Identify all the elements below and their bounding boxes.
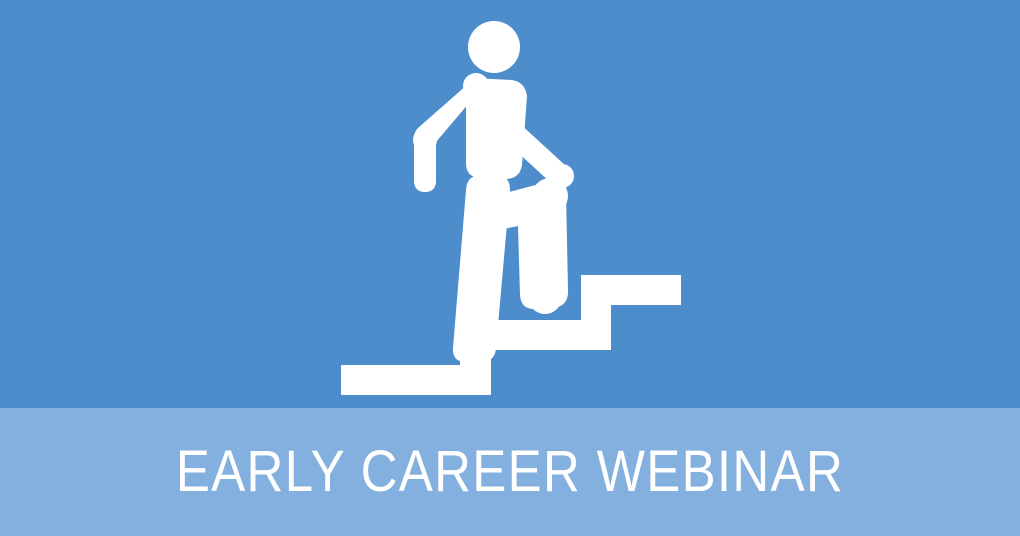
caption-band: EARLY CAREER WEBINAR [0,408,1020,536]
front-knee-joint [532,178,568,214]
person-climbing-stairs-icon [0,0,1020,408]
back-elbow-joint [413,128,437,152]
back-foot-shape [460,334,492,366]
artwork-region [0,0,1020,408]
banner-caption: EARLY CAREER WEBINAR [61,408,959,536]
back-hand-shape [414,170,436,192]
staircase-shape [341,275,681,395]
early-career-webinar-banner: EARLY CAREER WEBINAR [0,0,1020,536]
back-shoulder-joint [463,73,489,99]
head-shape [468,21,520,73]
front-foot-shape [528,280,562,314]
